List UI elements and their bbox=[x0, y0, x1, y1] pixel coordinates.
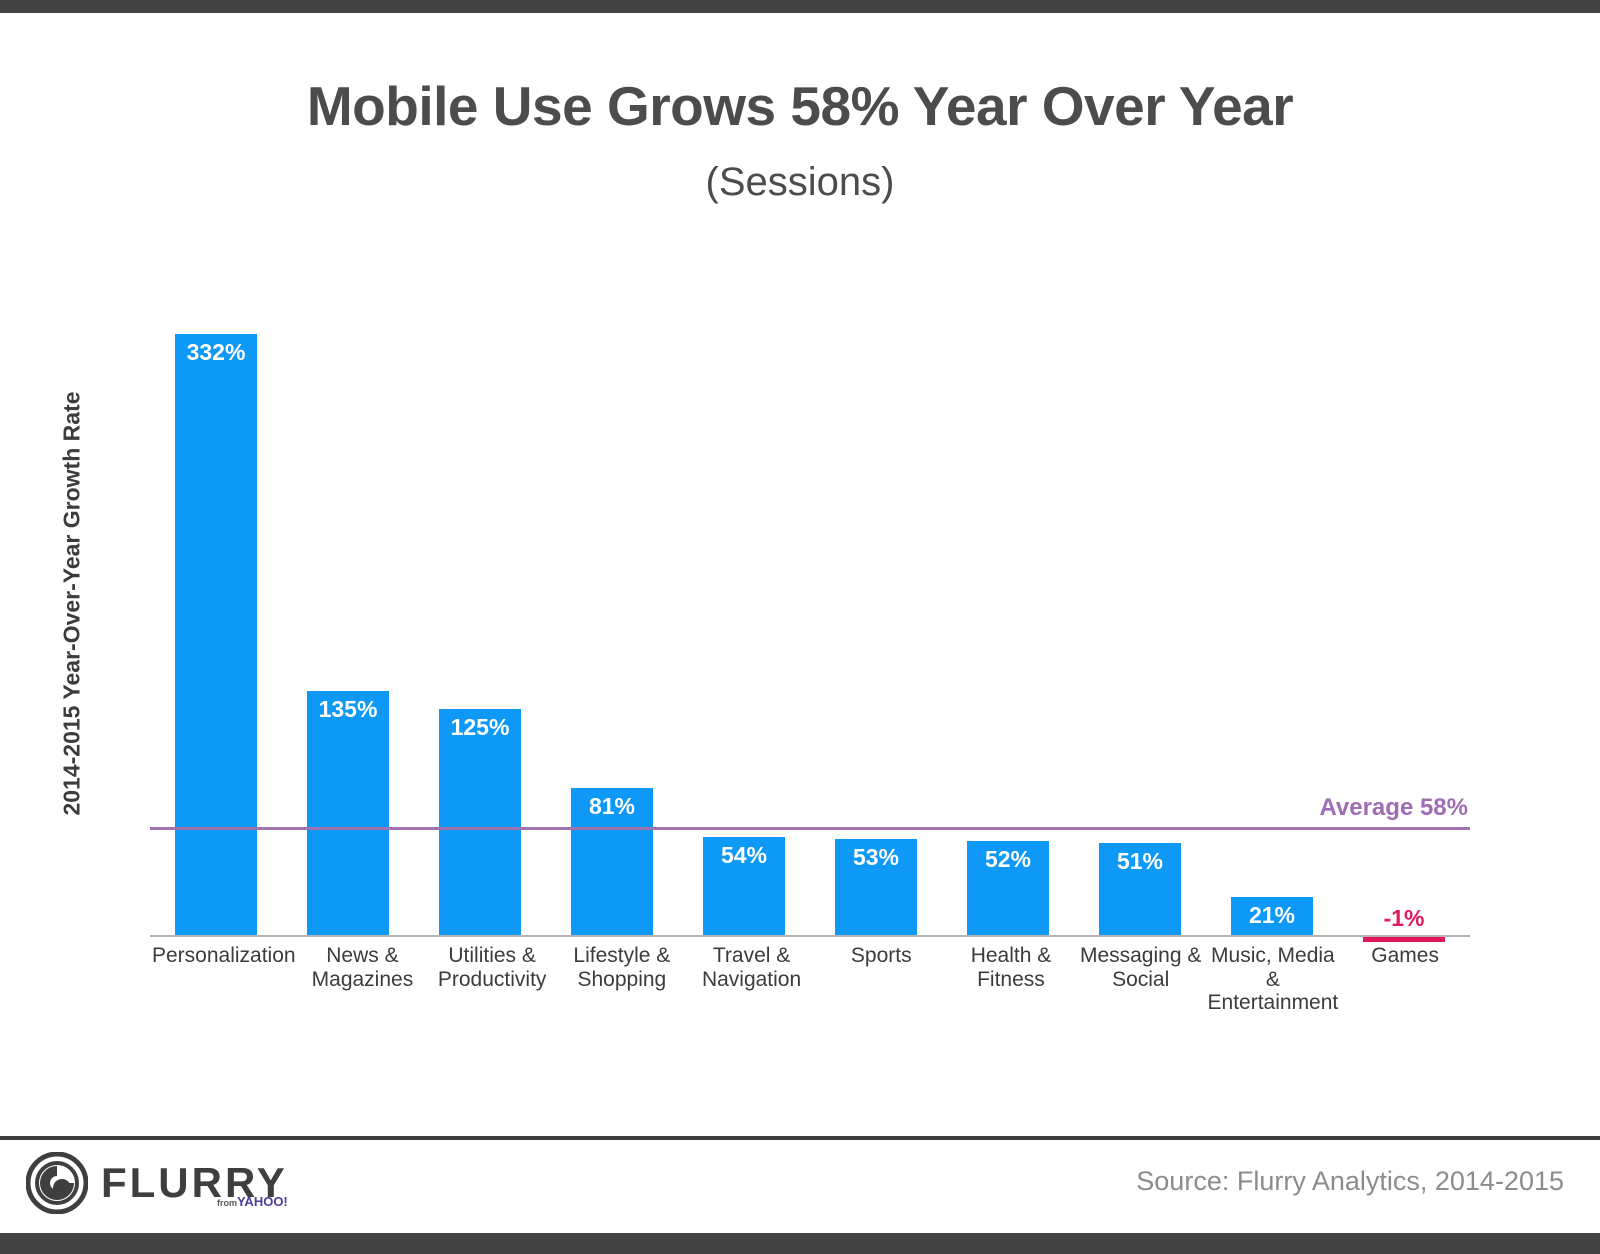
from-yahoo-mark: fromYAHOO! bbox=[217, 1194, 288, 1209]
x-axis-label: News &Magazines bbox=[298, 944, 428, 1015]
bottom-frame-bar bbox=[0, 1233, 1600, 1254]
y-axis-title: 2014-2015 Year-Over-Year Growth Rate bbox=[59, 344, 86, 864]
flurry-swirl-icon bbox=[26, 1152, 88, 1214]
x-axis-label-line: Utilities & bbox=[429, 944, 555, 968]
bar-value-label: 135% bbox=[319, 698, 378, 721]
x-axis-label: Lifestyle &Shopping bbox=[557, 944, 687, 1015]
x-axis-label: Messaging &Social bbox=[1076, 944, 1206, 1015]
x-axis-label-line: Messaging & bbox=[1078, 944, 1204, 968]
flurry-logo: FLURRY fromYAHOO! bbox=[26, 1152, 288, 1214]
x-axis-label: Utilities &Productivity bbox=[427, 944, 557, 1015]
bar-slot: 52% bbox=[942, 300, 1074, 935]
x-axis-label: Travel &Navigation bbox=[687, 944, 817, 1015]
bar-slot: 51% bbox=[1074, 300, 1206, 935]
average-line-label: Average 58% bbox=[1319, 794, 1468, 822]
x-axis-label: Music, Media &Entertainment bbox=[1206, 944, 1341, 1015]
top-frame-bar bbox=[0, 0, 1600, 13]
x-axis-label-line: Lifestyle & bbox=[559, 944, 685, 968]
bar[interactable]: 135% bbox=[307, 691, 389, 935]
bar[interactable]: 125% bbox=[439, 709, 521, 935]
x-axis-label: Personalization bbox=[150, 944, 298, 1015]
bar-slot: 135% bbox=[282, 300, 414, 935]
x-axis-label-line: Fitness bbox=[948, 968, 1074, 992]
bar-slot: 81% bbox=[546, 300, 678, 935]
bar-negative[interactable]: -1% bbox=[1363, 937, 1445, 942]
bar-value-label: 51% bbox=[1117, 850, 1163, 873]
yahoo-text: YAHOO! bbox=[237, 1194, 288, 1209]
bar-slot: 54% bbox=[678, 300, 810, 935]
bar-value-label: 125% bbox=[451, 716, 510, 739]
x-axis-label-line: Personalization bbox=[152, 944, 296, 968]
x-axis-label-line: News & bbox=[300, 944, 426, 968]
x-axis-label-line: Sports bbox=[818, 944, 944, 968]
bar[interactable]: 21% bbox=[1231, 897, 1313, 935]
bar-slot: -1% bbox=[1338, 300, 1470, 935]
bar-value-label: 21% bbox=[1249, 904, 1295, 927]
bar-slot: 125% bbox=[414, 300, 546, 935]
x-axis-label-line: Navigation bbox=[689, 968, 815, 992]
x-axis-label-line: Health & bbox=[948, 944, 1074, 968]
page-subtitle: (Sessions) bbox=[0, 160, 1600, 205]
x-axis-label: Health &Fitness bbox=[946, 944, 1076, 1015]
x-axis-label: Games bbox=[1340, 944, 1470, 1015]
page-title: Mobile Use Grows 58% Year Over Year bbox=[0, 74, 1600, 138]
bar-series: 332%135%125%81%54%53%52%51%21%-1% bbox=[150, 300, 1470, 935]
x-axis-label-line: Shopping bbox=[559, 968, 685, 992]
x-axis-labels: PersonalizationNews &MagazinesUtilities … bbox=[150, 944, 1470, 1015]
x-axis-label-line: Entertainment bbox=[1208, 991, 1339, 1015]
bar[interactable]: 51% bbox=[1099, 843, 1181, 935]
average-line bbox=[150, 827, 1470, 830]
from-text: from bbox=[217, 1198, 237, 1208]
x-axis-label-line: Music, Media & bbox=[1208, 944, 1339, 991]
bar-value-label: 81% bbox=[589, 795, 635, 818]
bar-value-label: 332% bbox=[187, 341, 246, 364]
x-axis-label-line: Social bbox=[1078, 968, 1204, 992]
x-axis-label: Sports bbox=[816, 944, 946, 1015]
bar-value-label: 52% bbox=[985, 848, 1031, 871]
bar[interactable]: 332% bbox=[175, 334, 257, 935]
bar-slot: 53% bbox=[810, 300, 942, 935]
flurry-logo-text: FLURRY fromYAHOO! bbox=[101, 1162, 288, 1204]
bar-slot: 21% bbox=[1206, 300, 1338, 935]
bar-slot: 332% bbox=[150, 300, 282, 935]
bar-value-label: -1% bbox=[1384, 907, 1425, 930]
bar[interactable]: 52% bbox=[967, 841, 1049, 935]
x-axis-line bbox=[150, 935, 1470, 937]
x-axis-label-line: Games bbox=[1342, 944, 1468, 968]
x-axis-label-line: Travel & bbox=[689, 944, 815, 968]
bar-value-label: 54% bbox=[721, 844, 767, 867]
bar[interactable]: 54% bbox=[703, 837, 785, 935]
source-note: Source: Flurry Analytics, 2014-2015 bbox=[1136, 1166, 1564, 1197]
bar[interactable]: 81% bbox=[571, 788, 653, 935]
x-axis-label-line: Productivity bbox=[429, 968, 555, 992]
bar[interactable]: 53% bbox=[835, 839, 917, 935]
footer-divider bbox=[0, 1136, 1600, 1140]
chart-plot-area: 332%135%125%81%54%53%52%51%21%-1% Averag… bbox=[150, 300, 1470, 937]
x-axis-label-line: Magazines bbox=[300, 968, 426, 992]
bar-value-label: 53% bbox=[853, 846, 899, 869]
